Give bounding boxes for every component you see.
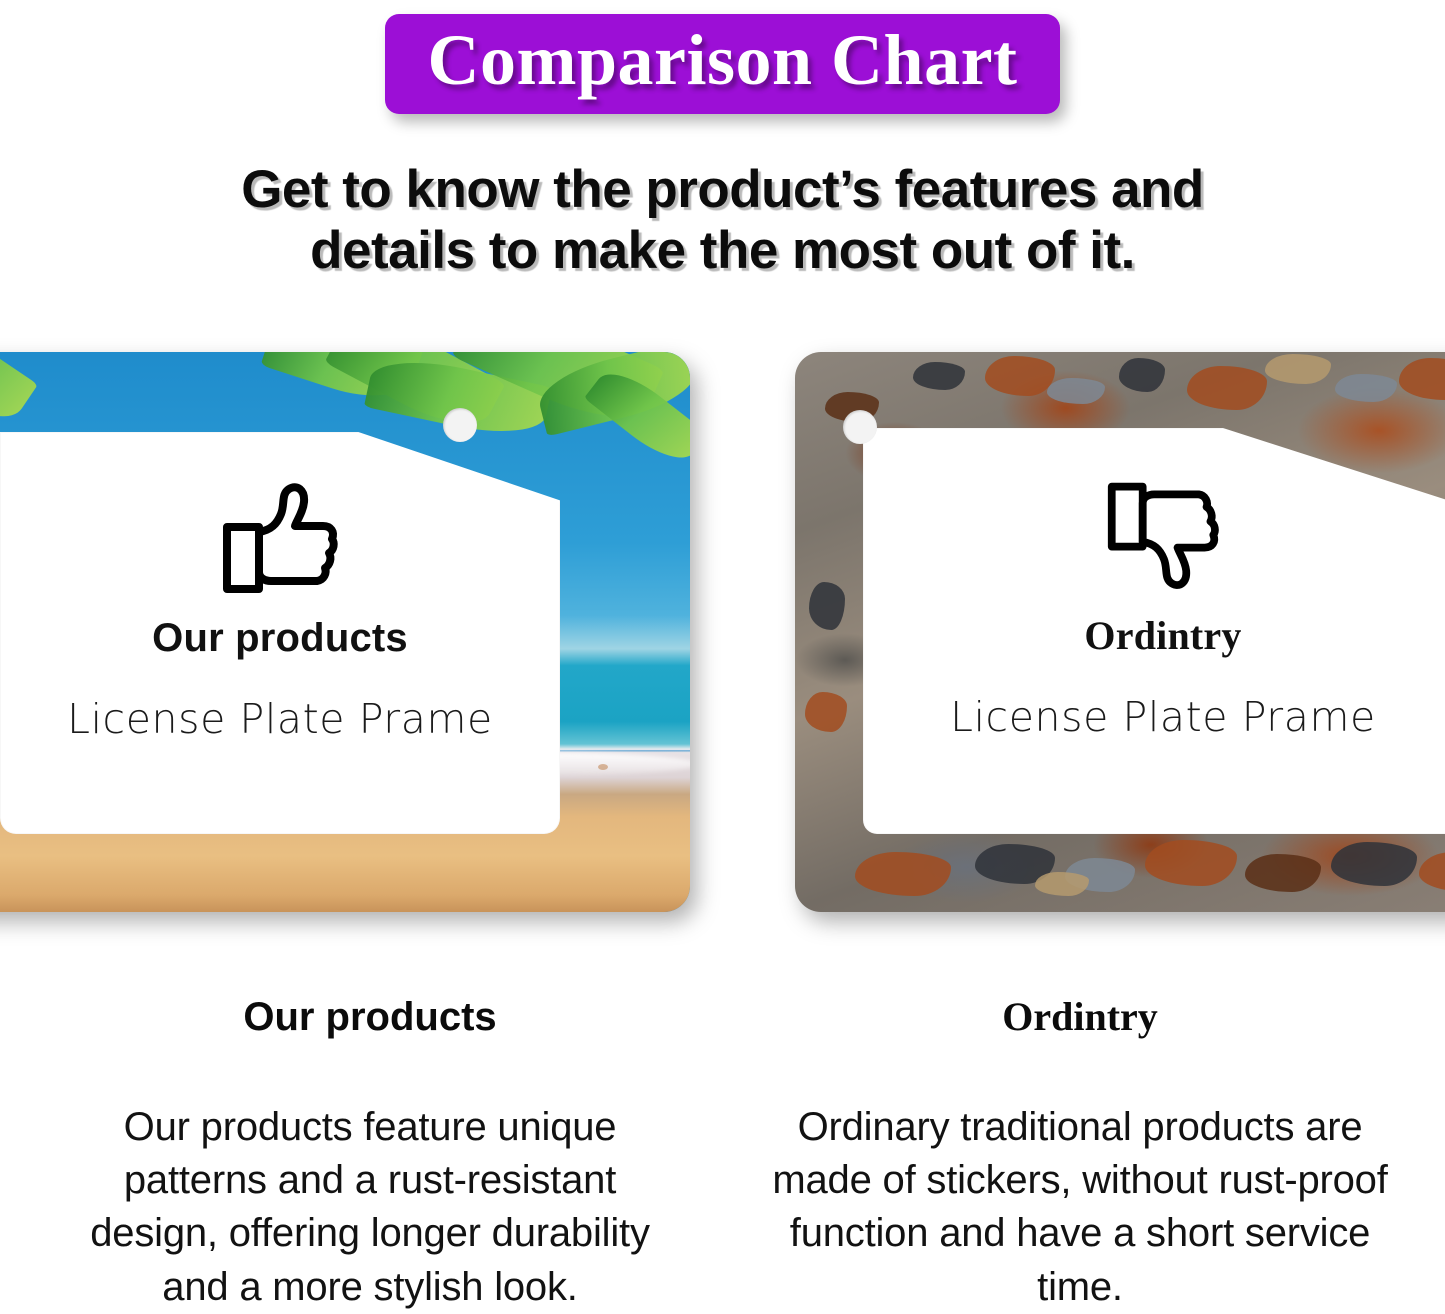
title-banner: Comparison Chart bbox=[385, 14, 1059, 114]
rust-flake bbox=[1331, 842, 1417, 886]
sand-speck bbox=[598, 764, 608, 770]
plate-sub-ours: License Plate Prame bbox=[0, 695, 560, 743]
subtitle: Get to know the product’s features and d… bbox=[0, 160, 1445, 282]
subtitle-line-2: details to make the most out of it. bbox=[0, 221, 1445, 282]
palm-frond-icon bbox=[0, 352, 38, 433]
title-banner-container: Comparison Chart bbox=[0, 14, 1445, 114]
rust-flake bbox=[1145, 840, 1237, 886]
plate-label-ours: Our products bbox=[0, 616, 560, 661]
rust-flake bbox=[985, 356, 1055, 396]
rust-flake bbox=[1265, 354, 1331, 384]
subtitle-line-1: Get to know the product’s features and bbox=[0, 160, 1445, 221]
column-heading-ours: Our products bbox=[20, 995, 720, 1039]
rust-flake bbox=[1035, 872, 1089, 896]
thumbs-down-icon bbox=[1104, 476, 1222, 594]
rust-flake bbox=[1119, 358, 1165, 392]
rust-flake bbox=[855, 852, 951, 896]
product-frame-ordinary: Ordintry License Plate Prame bbox=[795, 352, 1445, 912]
product-frame-ours: Our products License Plate Prame bbox=[0, 352, 690, 912]
rust-flake bbox=[809, 582, 845, 630]
column-body-ordinary: Ordinary traditional products are made o… bbox=[770, 1101, 1390, 1314]
column-heading-ordinary: Ordintry bbox=[730, 995, 1430, 1039]
description-column-ours: Our products Our products feature unique… bbox=[20, 995, 720, 1314]
column-body-ours: Our products feature unique patterns and… bbox=[60, 1101, 680, 1314]
thumbs-up-icon bbox=[219, 480, 341, 598]
page-title: Comparison Chart bbox=[427, 22, 1017, 100]
rust-flake bbox=[1335, 374, 1397, 402]
rust-flake bbox=[805, 692, 847, 732]
rust-flake bbox=[913, 362, 965, 390]
rust-flake bbox=[1399, 358, 1445, 400]
rust-flake bbox=[1419, 852, 1445, 892]
license-plate-window-ours: Our products License Plate Prame bbox=[0, 432, 560, 834]
mounting-hole bbox=[443, 408, 477, 442]
mounting-hole bbox=[843, 410, 877, 444]
description-columns: Our products Our products feature unique… bbox=[0, 995, 1445, 1314]
plate-sub-ordinary: License Plate Prame bbox=[863, 693, 1445, 741]
description-column-ordinary: Ordintry Ordinary traditional products a… bbox=[730, 995, 1430, 1314]
product-frames-row: Our products License Plate Prame bbox=[0, 352, 1445, 927]
rust-flake bbox=[1047, 378, 1105, 404]
license-plate-window-ordinary: Ordintry License Plate Prame bbox=[863, 428, 1445, 834]
plate-label-ordinary: Ordintry bbox=[863, 612, 1445, 659]
rust-flake bbox=[1187, 366, 1267, 410]
rust-flake bbox=[1245, 854, 1321, 892]
